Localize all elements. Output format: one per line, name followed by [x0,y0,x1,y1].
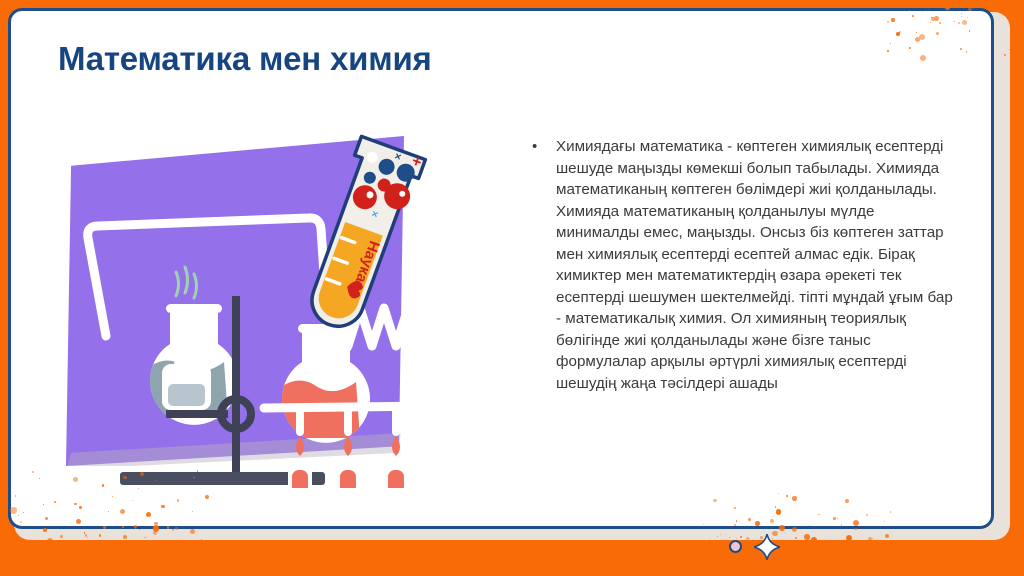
body-text-block: • Химиядағы математика - көптеген химиял… [528,136,960,394]
flask-right [278,324,370,443]
splatter-speck [14,537,15,538]
splatter-speck [905,1,907,3]
splatter-speck [887,4,888,5]
splatter-speck [1004,1,1006,3]
splatter-speck [1021,42,1022,43]
body-paragraph: Химиядағы математика - көптеген химиялық… [556,136,960,394]
page-title: Математика мен химия [58,40,432,78]
steam-wisps [176,267,197,298]
bullet-marker: • [528,136,556,158]
splatter-speck [968,3,971,6]
splatter-speck [995,2,997,4]
splatter-speck [993,3,995,5]
decoration-dot [729,540,742,553]
splatter-speck [191,540,194,543]
splatter-speck [15,538,16,539]
splatter-speck [912,2,913,3]
splatter-speck [949,1,952,4]
sparkle-icon [754,534,780,560]
splatter-speck [198,540,200,542]
splatter-speck [916,1,918,3]
splatter-speck [916,1,921,6]
splatter-speck [191,540,193,542]
splatter-speck [939,2,942,5]
slide-canvas: Математика мен химия [0,0,1024,576]
splatter-speck [996,3,997,4]
chemistry-lab-illustration: Наука + × × [58,118,458,488]
splatter-speck [55,540,56,541]
splatter-speck [954,5,956,7]
splatter-speck [1019,1,1021,3]
lab-apparatus-art: Наука + × × [58,118,458,488]
splatter-speck [52,540,55,543]
splatter-speck [0,525,5,530]
